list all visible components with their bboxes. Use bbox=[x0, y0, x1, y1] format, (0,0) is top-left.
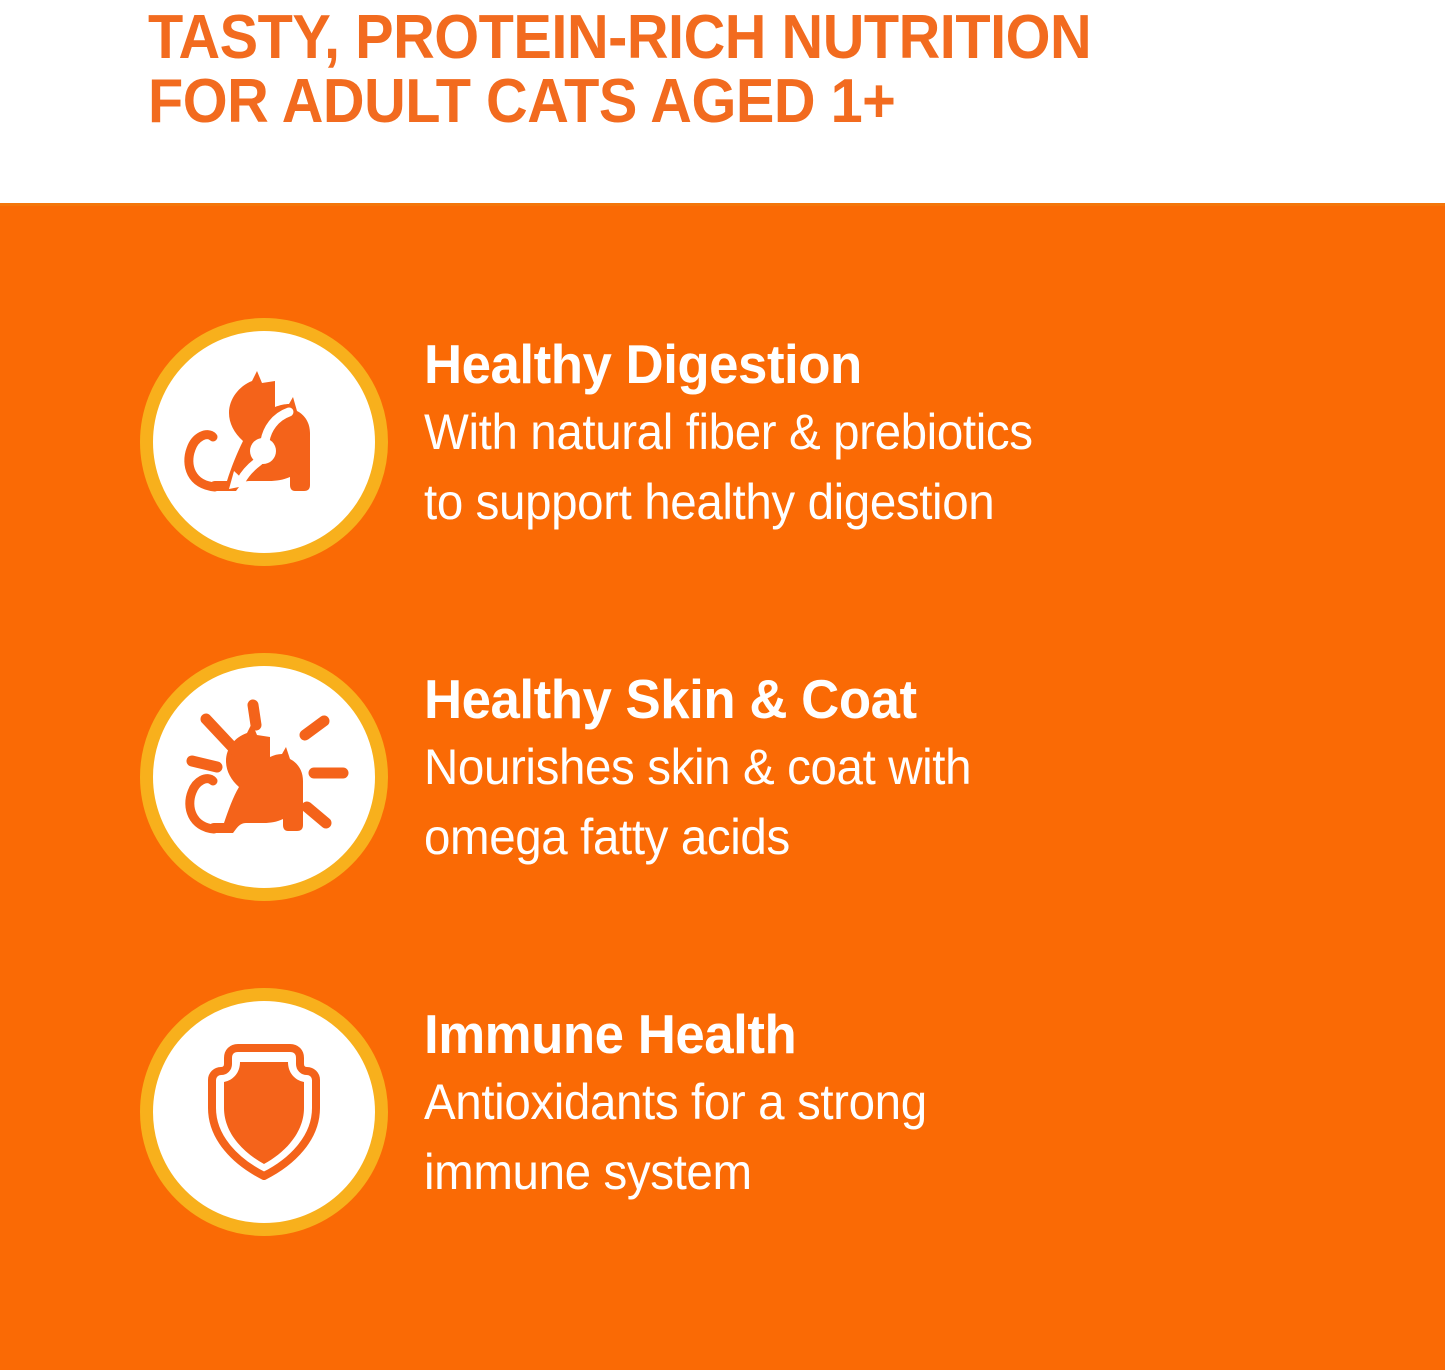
benefit-description: With natural fiber & prebiotics to suppo… bbox=[424, 397, 1279, 537]
benefit-text-block: Immune Health Antioxidants for a strong … bbox=[424, 1003, 1324, 1207]
page-title: TASTY, PROTEIN-RICH NUTRITION FOR ADULT … bbox=[148, 6, 1292, 134]
benefits-poster: TASTY, PROTEIN-RICH NUTRITION FOR ADULT … bbox=[0, 0, 1445, 1370]
benefit-description: Antioxidants for a strong immune system bbox=[424, 1067, 1279, 1207]
cat-digestion-icon bbox=[179, 367, 349, 517]
benefits-panel: Healthy Digestion With natural fiber & p… bbox=[0, 203, 1445, 1370]
headline-band: TASTY, PROTEIN-RICH NUTRITION FOR ADULT … bbox=[0, 0, 1445, 203]
benefit-title: Healthy Digestion bbox=[424, 333, 1288, 395]
benefit-title: Immune Health bbox=[424, 1003, 1288, 1065]
benefit-title: Healthy Skin & Coat bbox=[424, 668, 1288, 730]
benefit-row: Immune Health Antioxidants for a strong … bbox=[0, 985, 1445, 1245]
benefit-row: Healthy Skin & Coat Nourishes skin & coa… bbox=[0, 650, 1445, 910]
benefit-text-block: Healthy Skin & Coat Nourishes skin & coa… bbox=[424, 668, 1324, 872]
benefit-icon-circle bbox=[140, 318, 388, 566]
benefit-description: Nourishes skin & coat with omega fatty a… bbox=[424, 732, 1279, 872]
cat-shine-icon bbox=[174, 697, 354, 857]
benefit-text-block: Healthy Digestion With natural fiber & p… bbox=[424, 333, 1324, 537]
benefit-row: Healthy Digestion With natural fiber & p… bbox=[0, 315, 1445, 575]
shield-icon bbox=[204, 1042, 324, 1182]
benefit-icon-circle bbox=[140, 988, 388, 1236]
panel-top-divider bbox=[0, 203, 1445, 206]
benefit-icon-circle bbox=[140, 653, 388, 901]
